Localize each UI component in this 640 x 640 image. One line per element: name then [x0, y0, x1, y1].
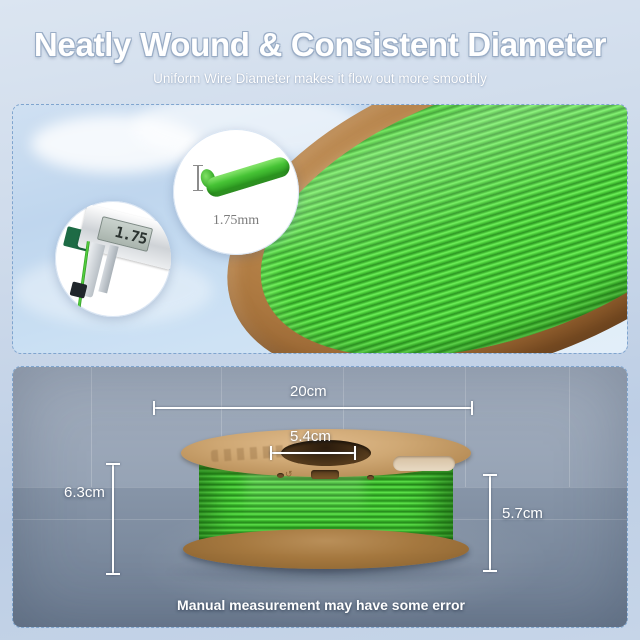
measure-line-5-7cm	[489, 474, 491, 572]
measure-tick	[106, 573, 120, 575]
measure-tick	[106, 463, 120, 465]
header: Neatly Wound & Consistent Diameter Unifo…	[0, 0, 640, 96]
measure-tick	[270, 446, 272, 460]
measure-line-5-4cm	[270, 452, 356, 454]
measure-line-20cm	[153, 407, 473, 409]
measure-label-20cm: 20cm	[290, 383, 327, 400]
panel-vignette	[13, 367, 627, 627]
diameter-label: 1.75mm	[173, 213, 299, 229]
caliper-measurement-inset: 1.75	[55, 201, 171, 317]
measure-label-5-4cm: 5.4cm	[290, 428, 331, 445]
page-subtitle: Uniform Wire Diameter makes it flow out …	[0, 71, 640, 86]
page-title: Neatly Wound & Consistent Diameter	[0, 26, 640, 64]
measurement-disclaimer: Manual measurement may have some error	[13, 597, 628, 613]
measure-label-6-3cm: 6.3cm	[64, 484, 105, 501]
measure-tick	[483, 474, 497, 476]
measure-tick	[153, 401, 155, 415]
filament-closeup-panel: 1.75mm 1.75	[12, 104, 628, 354]
measure-line-6-3cm	[112, 463, 114, 575]
measure-tick	[354, 446, 356, 460]
measure-label-5-7cm: 5.7cm	[502, 505, 543, 522]
filament-diameter-inset: 1.75mm	[173, 129, 299, 255]
filament-rod	[204, 155, 292, 199]
measure-tick	[471, 401, 473, 415]
spool-dimensions-panel: ↺ 20cm 5.4cm 6.3cm 5.7cm Manual measurem…	[12, 366, 628, 628]
measure-tick	[483, 570, 497, 572]
